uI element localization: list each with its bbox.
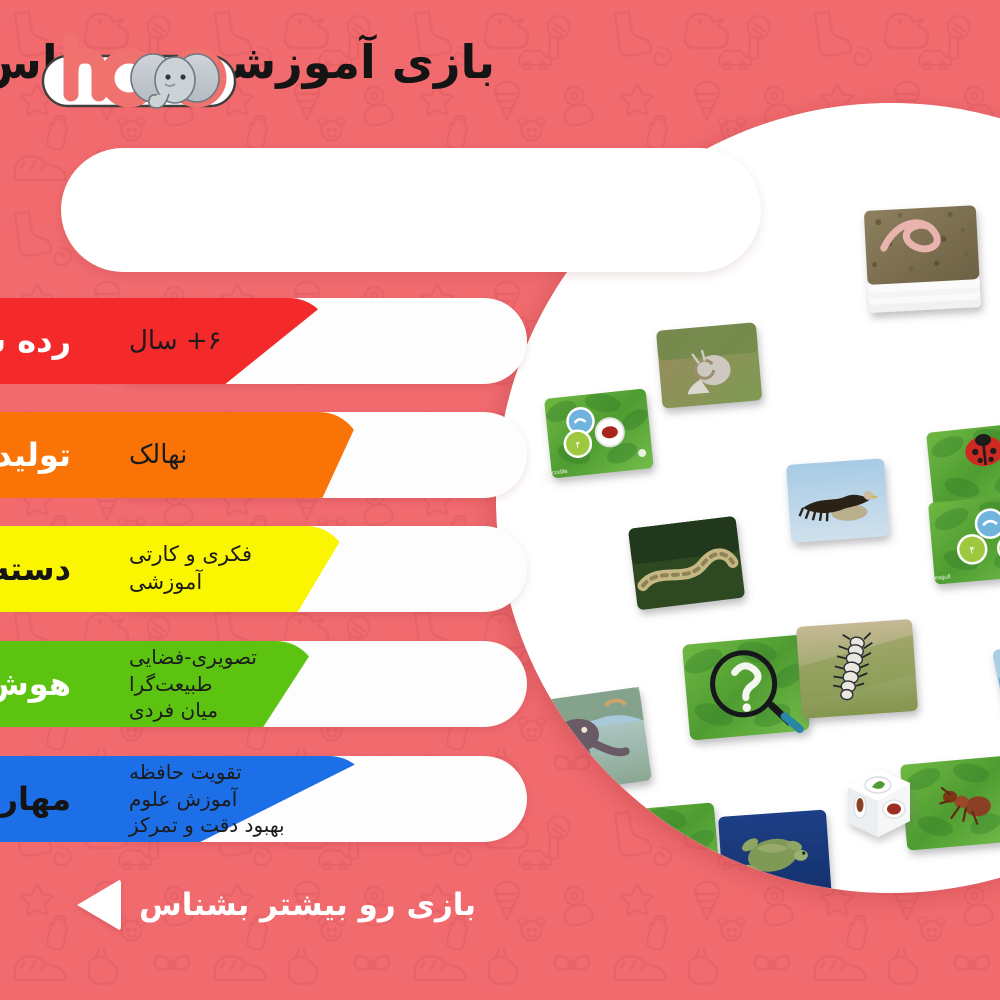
card-snake bbox=[629, 516, 746, 611]
spec-label-text: مهارت‌ها bbox=[0, 756, 72, 842]
svg-text:Parrot: Parrot bbox=[596, 890, 614, 893]
spec-value-line: میان فردی bbox=[130, 697, 219, 723]
card-back-seagull: ۴ Seagull bbox=[925, 494, 1000, 585]
spec-label-text: هوش‌ها bbox=[0, 641, 72, 727]
card-back-parrot: ۴ Parrot bbox=[589, 799, 724, 893]
spec-value-text: تصویری-فضایی طبیعت‌گرا میان فردی bbox=[116, 641, 374, 727]
card-back-question bbox=[681, 633, 814, 741]
card-ant bbox=[901, 755, 1000, 850]
spec-value-text: فکری و کارتی آموزشی bbox=[116, 526, 374, 612]
spec-value-line: آموزشی bbox=[130, 569, 203, 597]
brand-logo[interactable] bbox=[38, 28, 243, 118]
card-sea-turtle bbox=[719, 809, 833, 893]
card-deck-earthworm bbox=[865, 205, 982, 313]
spec-value-text: تقویت حافظه آموزش علوم بهبود دقت و تمرکز bbox=[116, 756, 374, 842]
play-triangle-icon bbox=[78, 879, 122, 931]
card-caterpillar bbox=[797, 619, 919, 719]
spec-value-line: تقویت حافظه bbox=[130, 759, 243, 785]
card-eagle bbox=[787, 458, 890, 543]
hoo-elephant-logo-icon bbox=[38, 28, 243, 118]
spec-label-text: رده سنی bbox=[0, 298, 72, 384]
spec-value-line: نهالک bbox=[130, 438, 188, 472]
spec-value-line: طبیعت‌گرا bbox=[130, 671, 213, 697]
svg-text:۴: ۴ bbox=[970, 545, 976, 556]
spec-label-text: تولیدکننده bbox=[0, 412, 72, 498]
spec-value-line: ۶+ سال bbox=[130, 324, 223, 358]
card-snail bbox=[657, 322, 763, 408]
spec-value-line: فکری و کارتی bbox=[130, 541, 253, 569]
spec-value-line: آموزش علوم bbox=[130, 786, 238, 812]
spec-value-text: نهالک bbox=[116, 412, 374, 498]
cta-more-info[interactable]: بازی رو بیشتر بشناس bbox=[78, 868, 477, 942]
spec-label-text: دسته‌بندی bbox=[0, 526, 72, 612]
spec-value-line: تصویری-فضایی bbox=[130, 644, 258, 670]
card-back-crocodile: ۴ Crocodile bbox=[535, 385, 657, 480]
title-banner bbox=[62, 148, 762, 272]
cta-label: بازی رو بیشتر بشناس bbox=[140, 887, 477, 923]
card-octopus bbox=[525, 687, 653, 796]
spec-value-text: ۶+ سال bbox=[116, 298, 374, 384]
svg-text:۴: ۴ bbox=[634, 859, 641, 871]
spec-value-line: بهبود دقت و تمرکز bbox=[130, 812, 286, 838]
